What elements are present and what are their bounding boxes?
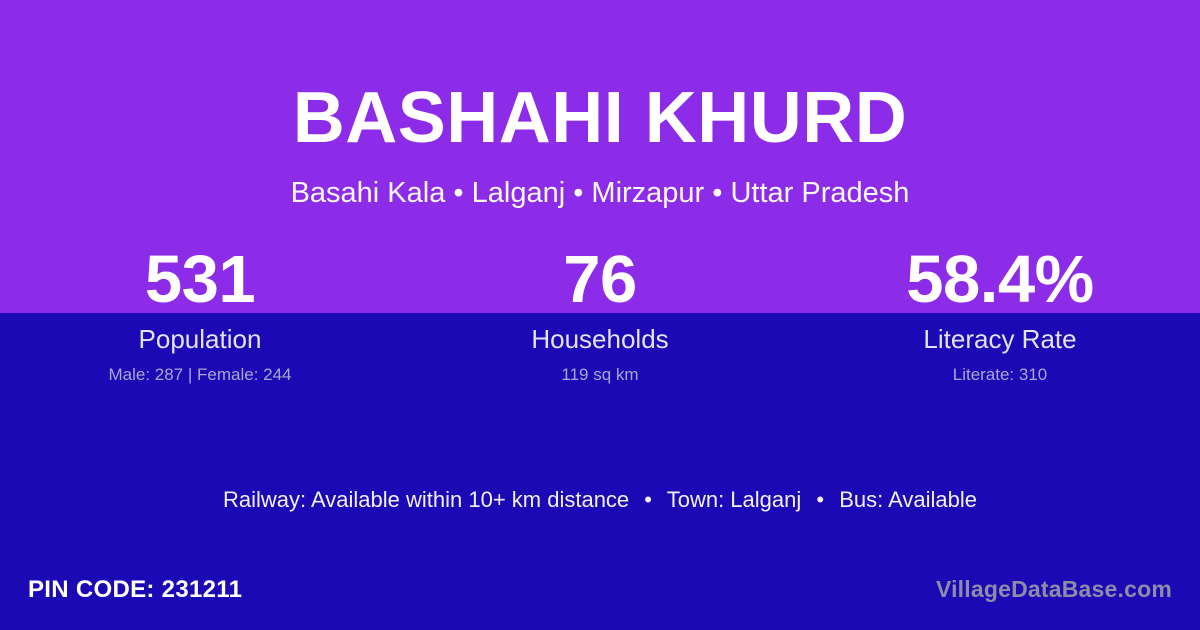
stat-households-label: Households: [400, 326, 800, 353]
stat-households: 76 Households 119 sq km: [400, 246, 800, 384]
village-info-card: BASHAHI KHURD Basahi Kala • Lalganj • Mi…: [0, 0, 1200, 630]
amenity-separator-icon: •: [807, 487, 833, 512]
amenities-line: Railway: Available within 10+ km distanc…: [0, 487, 1200, 513]
stat-literacy-rate-sub: Literate: 310: [800, 366, 1200, 384]
stat-literacy-rate-label: Literacy Rate: [800, 326, 1200, 353]
page-title: BASHAHI KHURD: [0, 82, 1200, 154]
stat-population-label: Population: [0, 326, 400, 353]
stat-households-value: 76: [400, 246, 800, 313]
stat-population-value: 531: [0, 246, 400, 313]
stat-literacy-rate-value: 58.4%: [800, 246, 1200, 313]
amenity-town: Town: Lalganj: [667, 487, 802, 512]
stats-row: 531 Population Male: 287 | Female: 244 7…: [0, 246, 1200, 384]
amenity-separator-icon: •: [635, 487, 661, 512]
amenity-railway: Railway: Available within 10+ km distanc…: [223, 487, 629, 512]
stat-literacy-rate: 58.4% Literacy Rate Literate: 310: [800, 246, 1200, 384]
hero-header: BASHAHI KHURD Basahi Kala • Lalganj • Mi…: [0, 82, 1200, 210]
stat-population: 531 Population Male: 287 | Female: 244: [0, 246, 400, 384]
stat-population-sub: Male: 287 | Female: 244: [0, 366, 400, 384]
amenity-bus: Bus: Available: [839, 487, 977, 512]
pin-code-label: PIN CODE: 231211: [28, 577, 242, 603]
brand-watermark: VillageDataBase.com: [936, 577, 1172, 602]
stat-households-sub: 119 sq km: [400, 366, 800, 384]
breadcrumb: Basahi Kala • Lalganj • Mirzapur • Uttar…: [0, 154, 1200, 210]
